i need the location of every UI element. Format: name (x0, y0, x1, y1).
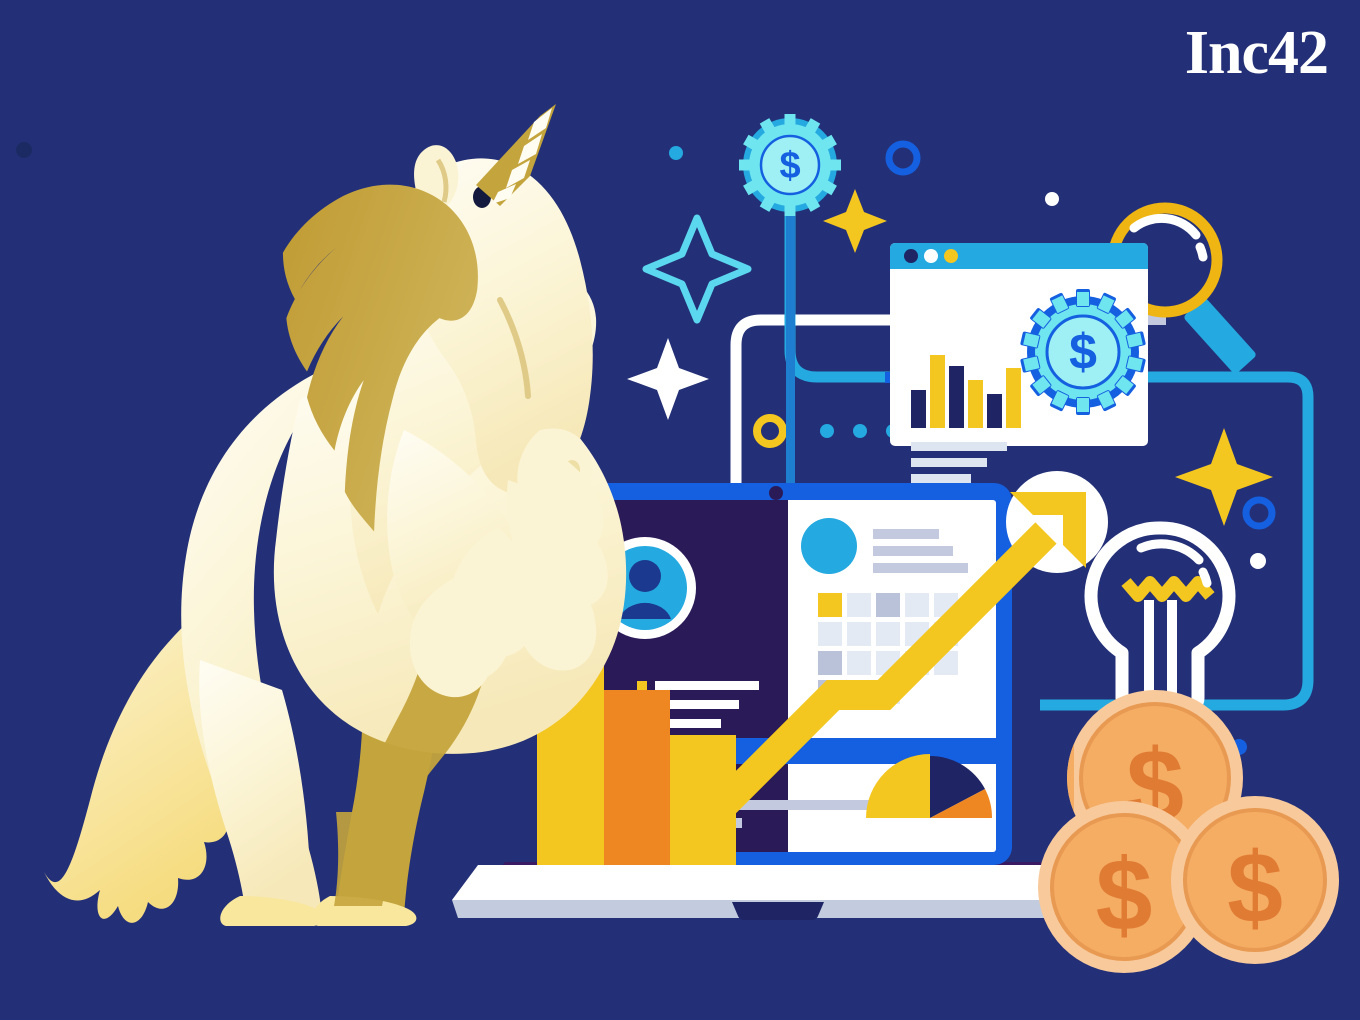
dot-cyan (853, 424, 867, 438)
inc42-logo[interactable]: Inc42 (1185, 22, 1328, 84)
bulb-highlight-dot (1203, 572, 1207, 583)
laptop-base-top (452, 865, 1100, 900)
browser-bar (911, 390, 926, 428)
grid-cell (818, 622, 842, 646)
browser-bar (987, 394, 1002, 428)
gear-stem (786, 190, 795, 510)
browser-text-line (911, 442, 1007, 451)
bullet-marker (637, 681, 647, 691)
panel-avatar-dot (801, 518, 857, 574)
dot-white (1250, 553, 1266, 569)
panel-text-line (873, 546, 953, 556)
grid-cell (847, 622, 871, 646)
grid-cell (818, 593, 842, 617)
browser-bar (968, 380, 983, 428)
grid-cell (818, 651, 842, 675)
dot-white (1045, 192, 1059, 206)
browser-bar (1006, 368, 1021, 428)
grid-cell (876, 593, 900, 617)
grid-cell (876, 622, 900, 646)
dot-cyan (820, 424, 834, 438)
inc42-logo-text: Inc42 (1185, 22, 1328, 84)
browser-text-line (911, 474, 971, 483)
coin-right: $ (1171, 796, 1339, 964)
coin-dollar-symbol: $ (1227, 832, 1283, 944)
coin-dollar-symbol: $ (1096, 838, 1153, 952)
laptop-camera (769, 486, 783, 500)
browser-text-line (911, 458, 987, 467)
dot-navy (16, 142, 32, 158)
browser-bar (930, 355, 945, 428)
grid-cell (905, 593, 929, 617)
dot-cyan (669, 146, 683, 160)
bar-2 (604, 690, 670, 865)
panel-text-line (873, 529, 939, 539)
bar-3 (670, 735, 736, 865)
grid-cell (847, 651, 871, 675)
magnifier-highlight-dot (1200, 247, 1203, 257)
scene-artboard: $ (0, 0, 1360, 1020)
dollar-symbol: $ (779, 145, 800, 187)
laptop-trackpad-notch (732, 902, 824, 920)
window-dot-white[interactable] (924, 249, 938, 263)
browser-bar (949, 366, 964, 428)
bullet-line (655, 681, 759, 690)
panel-text-line (873, 563, 968, 573)
illustration-canvas: $ (0, 0, 1360, 1020)
window-dot-navy[interactable] (904, 249, 918, 263)
dollar-symbol: $ (1069, 324, 1097, 380)
window-dot-yellow[interactable] (944, 249, 958, 263)
grid-cell (847, 593, 871, 617)
